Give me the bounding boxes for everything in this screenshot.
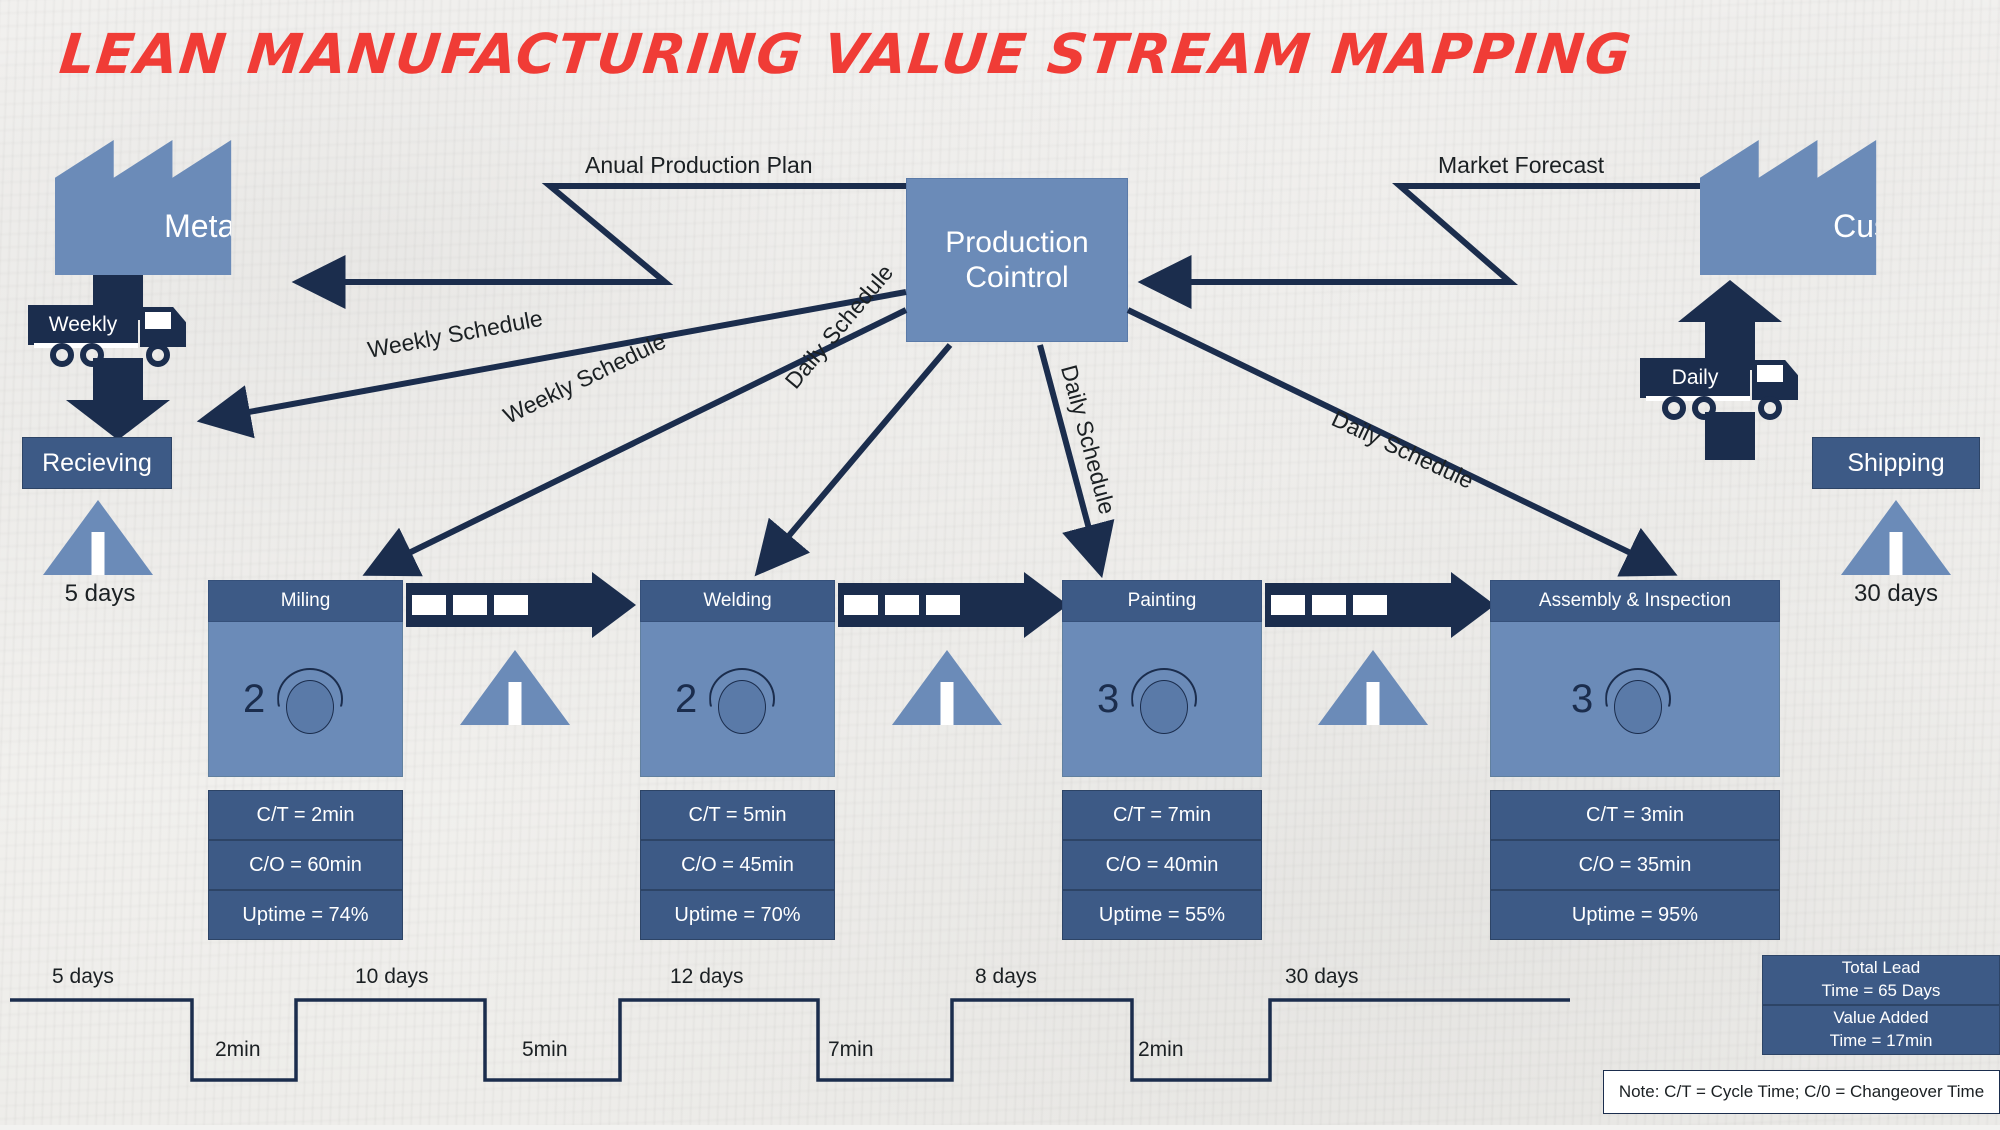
- production-control-line1: Production: [945, 225, 1088, 260]
- lead-time-3: 12 days: [670, 965, 744, 989]
- metric-ct-assembly-inspection: C/T = 3min: [1490, 790, 1780, 840]
- process-title-milling: Miling: [208, 580, 403, 622]
- customer-factory-icon: Customer: [1700, 140, 2000, 275]
- weekly-schedule-label-1: Weekly Schedule: [366, 305, 545, 364]
- push-arrow-milling-to-welding: [406, 583, 636, 627]
- value-added-time-line2: Time = 17min: [1830, 1030, 1933, 1053]
- shipping-to-truck-arrow: [1705, 412, 1755, 460]
- value-added-time-line1: Value Added: [1833, 1007, 1928, 1030]
- truck-to-receiving-arrow: [66, 358, 170, 440]
- process-box-assembly-inspection[interactable]: Assembly & Inspection 3: [1490, 580, 1780, 777]
- metric-ct-milling: C/T = 2min: [208, 790, 403, 840]
- outbound-truck-label: Daily: [1672, 366, 1719, 390]
- process-time-2: 5min: [522, 1038, 568, 1062]
- process-time-4: 2min: [1138, 1038, 1184, 1062]
- welding-to-painting-inventory-triangle: [892, 650, 1002, 725]
- inbound-truck-label: Weekly: [49, 313, 117, 337]
- daily-schedule-label-1: Daily Schedule: [780, 259, 899, 394]
- process-box-painting[interactable]: Painting 3: [1062, 580, 1262, 777]
- annual-production-plan-label: Anual Production Plan: [585, 152, 813, 179]
- supplier-factory-icon: Metallservice: [55, 140, 460, 275]
- process-time-3: 7min: [828, 1038, 874, 1062]
- total-lead-time-line2: Time = 65 Days: [1822, 980, 1941, 1003]
- truck-to-customer-arrow: [1678, 280, 1782, 370]
- production-control-line2: Cointrol: [965, 260, 1068, 295]
- lead-time-1: 5 days: [52, 965, 114, 989]
- metric-ct-painting: C/T = 7min: [1062, 790, 1262, 840]
- operator-count-assembly-inspection: 3: [1571, 677, 1593, 722]
- metric-uptime-painting: Uptime = 55%: [1062, 890, 1262, 940]
- process-box-milling[interactable]: Miling 2: [208, 580, 403, 777]
- daily-schedule-label-3: Daily Schedule: [1327, 405, 1477, 494]
- shipping-box[interactable]: Shipping: [1812, 437, 1980, 489]
- total-lead-time-line1: Total Lead: [1842, 957, 1920, 980]
- inbound-truck-icon: Weekly: [28, 305, 188, 365]
- metric-uptime-welding: Uptime = 70%: [640, 890, 835, 940]
- customer-label: Customer: [1833, 208, 1972, 275]
- weekly-schedule-label-2: Weekly Schedule: [499, 328, 670, 430]
- operator-icon: [707, 664, 777, 734]
- metric-co-assembly-inspection: C/O = 35min: [1490, 840, 1780, 890]
- note-box: Note: C/T = Cycle Time; C/0 = Changeover…: [1603, 1070, 2000, 1114]
- operator-count-painting: 3: [1097, 677, 1119, 722]
- process-title-assembly-inspection: Assembly & Inspection: [1490, 580, 1780, 622]
- push-arrow-welding-to-painting: [838, 583, 1068, 627]
- metric-uptime-assembly-inspection: Uptime = 95%: [1490, 890, 1780, 940]
- production-control-box[interactable]: Production Cointrol: [906, 178, 1128, 342]
- operator-icon: [275, 664, 345, 734]
- receiving-label: Recieving: [42, 449, 152, 478]
- process-box-welding[interactable]: Welding 2: [640, 580, 835, 777]
- shipping-inventory-triangle: [1841, 500, 1951, 575]
- note-text: Note: C/T = Cycle Time; C/0 = Changeover…: [1619, 1082, 1984, 1102]
- operator-icon: [1129, 664, 1199, 734]
- shipping-label: Shipping: [1847, 449, 1944, 478]
- process-title-painting: Painting: [1062, 580, 1262, 622]
- operator-count-milling: 2: [243, 677, 265, 722]
- supplier-label: Metallservice: [164, 208, 351, 275]
- metric-co-painting: C/O = 40min: [1062, 840, 1262, 890]
- inventory-symbol: [92, 532, 105, 580]
- painting-to-assembly-inventory-triangle: [1318, 650, 1428, 725]
- value-stream-map-canvas: LEAN MANUFACTURING VALUE STREAM MAPPING …: [0, 0, 2000, 1125]
- process-title-welding: Welding: [640, 580, 835, 622]
- metric-ct-welding: C/T = 5min: [640, 790, 835, 840]
- push-arrow-painting-to-assembly: [1265, 583, 1495, 627]
- receiving-inventory-days: 5 days: [20, 580, 180, 608]
- metric-co-welding: C/O = 45min: [640, 840, 835, 890]
- milling-to-welding-inventory-triangle: [460, 650, 570, 725]
- lead-time-2: 10 days: [355, 965, 429, 989]
- lead-time-4: 8 days: [975, 965, 1037, 989]
- shipping-inventory-days: 30 days: [1816, 580, 1976, 608]
- metric-co-milling: C/O = 60min: [208, 840, 403, 890]
- metric-uptime-milling: Uptime = 74%: [208, 890, 403, 940]
- operator-icon: [1603, 664, 1673, 734]
- page-title: LEAN MANUFACTURING VALUE STREAM MAPPING: [57, 22, 1964, 86]
- process-time-1: 2min: [215, 1038, 261, 1062]
- value-added-time-box: Value Added Time = 17min: [1762, 1005, 2000, 1055]
- operator-count-welding: 2: [675, 677, 697, 722]
- lead-time-5: 30 days: [1285, 965, 1359, 989]
- total-lead-time-box: Total Lead Time = 65 Days: [1762, 955, 2000, 1005]
- daily-schedule-label-2: Daily Schedule: [1055, 362, 1121, 517]
- market-forecast-label: Market Forecast: [1438, 152, 1604, 179]
- receiving-inventory-triangle: [43, 500, 153, 575]
- receiving-box[interactable]: Recieving: [22, 437, 172, 489]
- outbound-truck-icon: Daily: [1640, 358, 1800, 418]
